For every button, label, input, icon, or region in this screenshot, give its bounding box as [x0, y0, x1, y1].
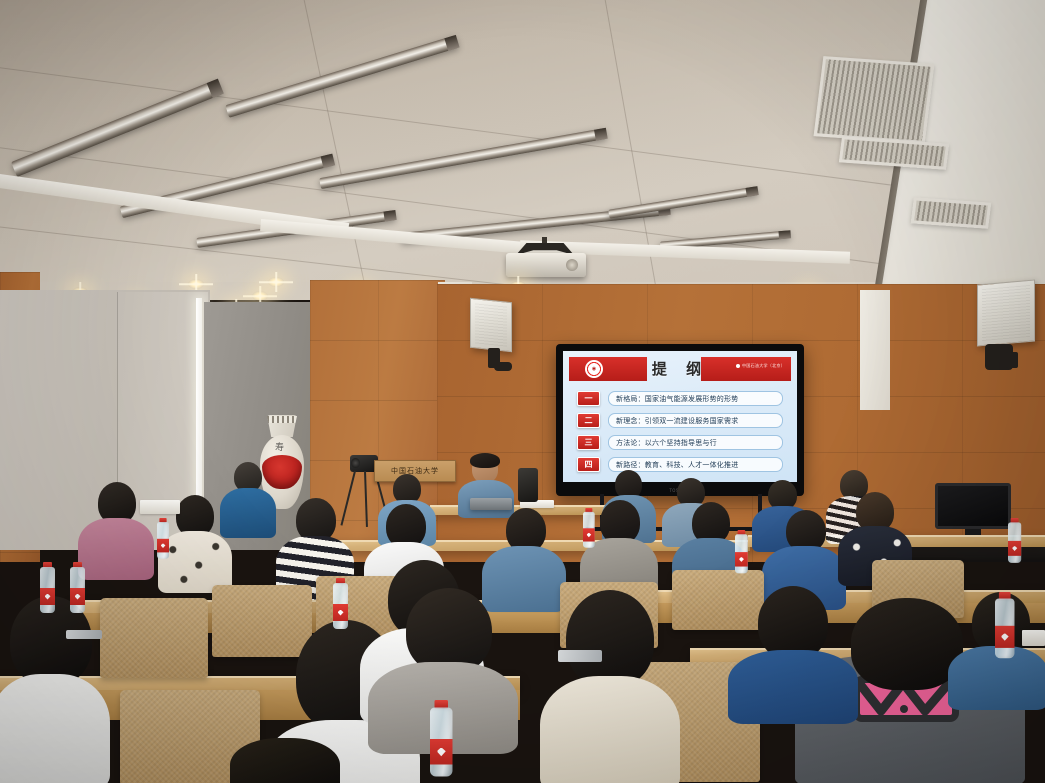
torso — [728, 650, 858, 724]
head — [758, 586, 828, 660]
presentation-tv[interactable]: ◉ 提 纲 中国石油大学（北京） 一 新格局：国家油气能源发展形势的形势 二 新… — [556, 344, 804, 496]
slide-bullet-list: 一 新格局：国家油气能源发展形势的形势 二 新理念：引领双一流建设服务国家需求 … — [577, 391, 783, 472]
slide-bullet-item: 三 方法论：以六个坚持指导思与行 — [577, 435, 783, 450]
audience-member-foreground — [540, 590, 680, 783]
vase-character: 寿 — [275, 440, 284, 453]
torso — [158, 531, 232, 593]
slide-bullet-item: 二 新理念：引领双一流建设服务国家需求 — [577, 413, 783, 428]
torso — [540, 676, 680, 783]
bullet-number-badge: 三 — [577, 435, 600, 450]
audience-member — [78, 482, 154, 578]
hvac-vent-grille — [911, 197, 992, 228]
head — [851, 598, 963, 690]
documents — [1022, 630, 1045, 646]
slide-bullet-item: 一 新格局：国家油气能源发展形势的形势 — [577, 391, 783, 406]
slide-content: ◉ 提 纲 中国石油大学（北京） 一 新格局：国家油气能源发展形势的形势 二 新… — [563, 351, 797, 482]
presenter-hair — [470, 453, 500, 468]
bullet-text: 新格局：国家油气能源发展形势的形势 — [608, 391, 783, 406]
mobile-phone[interactable] — [66, 630, 102, 639]
audience-member-foreground — [0, 596, 110, 783]
wall-speaker-left — [470, 298, 512, 352]
mobile-phone[interactable] — [558, 650, 602, 662]
bullet-text: 新理念：引领双一流建设服务国家需求 — [608, 413, 783, 428]
hvac-vent-grille — [814, 56, 935, 144]
head — [566, 590, 654, 688]
slide-header: ◉ 提 纲 中国石油大学（北京） — [563, 357, 797, 381]
audience-member — [728, 586, 858, 716]
watermark-text: 中国石油大学（北京） — [742, 363, 785, 369]
bullet-number-badge: 四 — [577, 457, 600, 472]
torso — [78, 518, 154, 580]
meeting-room-photo: 寿 ◉ 提 纲 中国石油大学（北京） 一 新格局：国家油气能源发展形势的形势 — [0, 0, 1045, 783]
desk-microphone — [518, 468, 538, 502]
audience-member-foreground — [190, 738, 380, 783]
wall-speaker-right — [977, 279, 1035, 346]
bullet-text: 方法论：以六个坚持指导思与行 — [608, 435, 783, 450]
slide-watermark: 中国石油大学（北京） — [736, 363, 785, 369]
speaker-bracket-left — [494, 362, 512, 371]
speaker-bracket-right — [1006, 352, 1018, 368]
documents — [140, 500, 180, 514]
chair[interactable] — [100, 598, 208, 678]
watermark-dot-icon — [736, 364, 740, 368]
head — [230, 738, 340, 783]
ceiling — [0, 0, 1045, 300]
bullet-number-badge: 二 — [577, 413, 600, 428]
white-wall-strip — [860, 290, 890, 410]
bullet-number-badge: 一 — [577, 391, 600, 406]
torso — [0, 674, 110, 783]
